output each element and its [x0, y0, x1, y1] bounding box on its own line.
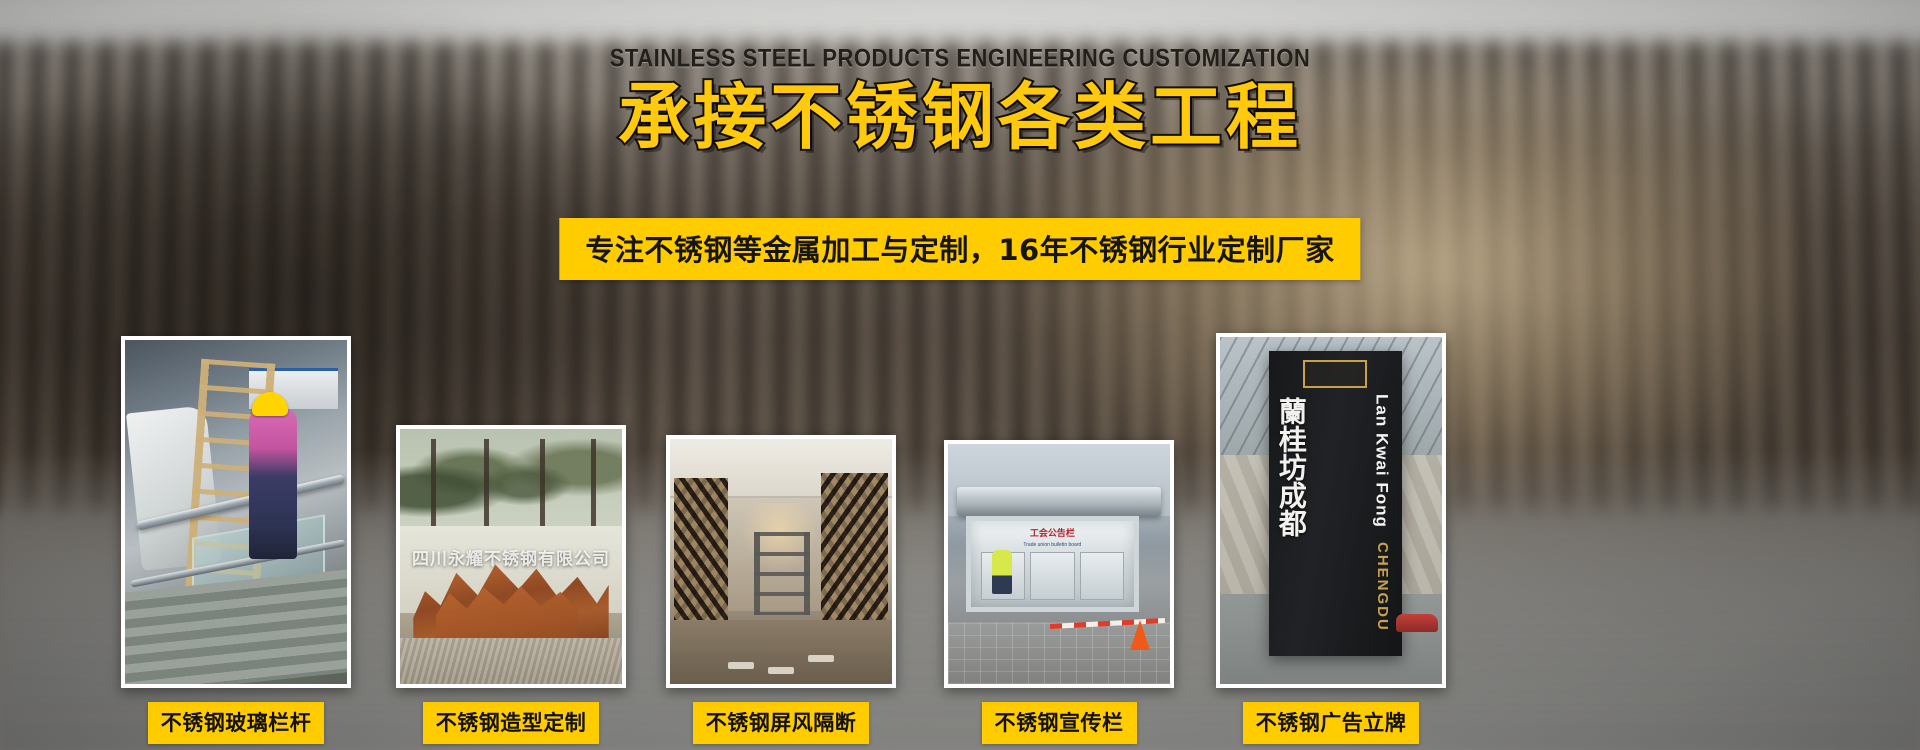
gallery-caption-1: 不锈钢玻璃栏杆	[148, 702, 325, 744]
gallery-caption-5: 不锈钢广告立牌	[1243, 702, 1420, 744]
gravel-ground	[400, 638, 622, 684]
pylon-english-text: Lan Kwai Fong	[1372, 394, 1391, 528]
floor-debris	[728, 662, 754, 669]
metal-screen-right	[821, 473, 888, 630]
staircase	[125, 569, 347, 688]
traffic-cone-icon	[1130, 620, 1150, 650]
product-photo-1[interactable]	[121, 336, 351, 688]
gallery-item-5[interactable]: 蘭桂坊成都 Lan Kwai Fong CHENGDU 不锈钢广告立牌	[1216, 333, 1446, 744]
product-photo-5[interactable]: 蘭桂坊成都 Lan Kwai Fong CHENGDU	[1216, 333, 1446, 688]
board-subtitle: Trade union bulletin board	[971, 542, 1134, 548]
floor-debris	[768, 667, 794, 674]
photo-1-scene	[125, 340, 347, 684]
photo-3-scene	[670, 439, 892, 684]
product-photo-4[interactable]: 工会公告栏 Trade union bulletin board	[944, 440, 1174, 688]
gallery-caption-2: 不锈钢造型定制	[423, 702, 600, 744]
parked-car	[1396, 614, 1438, 632]
subtitle-bar: 专注不锈钢等金属加工与定制，16年不锈钢行业定制厂家	[559, 218, 1360, 280]
gallery-item-4[interactable]: 工会公告栏 Trade union bulletin board 不锈钢宣传栏	[944, 440, 1174, 744]
photo-watermark: 四川永耀不锈钢有限公司	[400, 544, 622, 569]
gallery-caption-3: 不锈钢屏风隔断	[693, 702, 870, 744]
photo-5-scene: 蘭桂坊成都 Lan Kwai Fong CHENGDU	[1220, 337, 1442, 684]
gallery-caption-4: 不锈钢宣传栏	[982, 702, 1137, 744]
signage-pylon: 蘭桂坊成都 Lan Kwai Fong CHENGDU	[1269, 351, 1402, 656]
product-photo-3[interactable]	[666, 435, 896, 688]
promo-banner: STAINLESS STEEL PRODUCTS ENGINEERING CUS…	[0, 0, 1920, 750]
ground	[1220, 628, 1442, 684]
board-title: 工会公告栏	[971, 526, 1134, 539]
gallery-item-2[interactable]: 四川永耀不锈钢有限公司 不锈钢造型定制	[396, 425, 626, 744]
gallery-item-3[interactable]: 不锈钢屏风隔断	[666, 435, 896, 744]
poster-frame	[1030, 552, 1075, 600]
subtitle-text: 专注不锈钢等金属加工与定制，16年不锈钢行业定制厂家	[585, 227, 1334, 269]
page-title: 承接不锈钢各类工程	[0, 80, 1920, 155]
worker-figure	[249, 409, 297, 559]
metal-screen-left	[674, 478, 727, 625]
logo-plaque	[1303, 360, 1367, 387]
shelter-canopy	[957, 487, 1161, 516]
headline-block: STAINLESS STEEL PRODUCTS ENGINEERING CUS…	[0, 44, 1920, 155]
worker-figure	[992, 550, 1012, 594]
ladder-icon	[754, 532, 810, 615]
poster-frame	[1080, 552, 1125, 600]
english-tagline: STAINLESS STEEL PRODUCTS ENGINEERING CUS…	[0, 44, 1920, 73]
wood-floor	[670, 620, 892, 684]
product-photo-2[interactable]: 四川永耀不锈钢有限公司	[396, 425, 626, 688]
photo-4-scene: 工会公告栏 Trade union bulletin board	[948, 444, 1170, 684]
floor-debris	[808, 655, 834, 662]
gallery-item-1[interactable]: 不锈钢玻璃栏杆	[121, 336, 351, 744]
pylon-english-gold-text: CHENGDU	[1373, 542, 1390, 632]
pylon-chinese-text: 蘭桂坊成都	[1277, 397, 1306, 537]
